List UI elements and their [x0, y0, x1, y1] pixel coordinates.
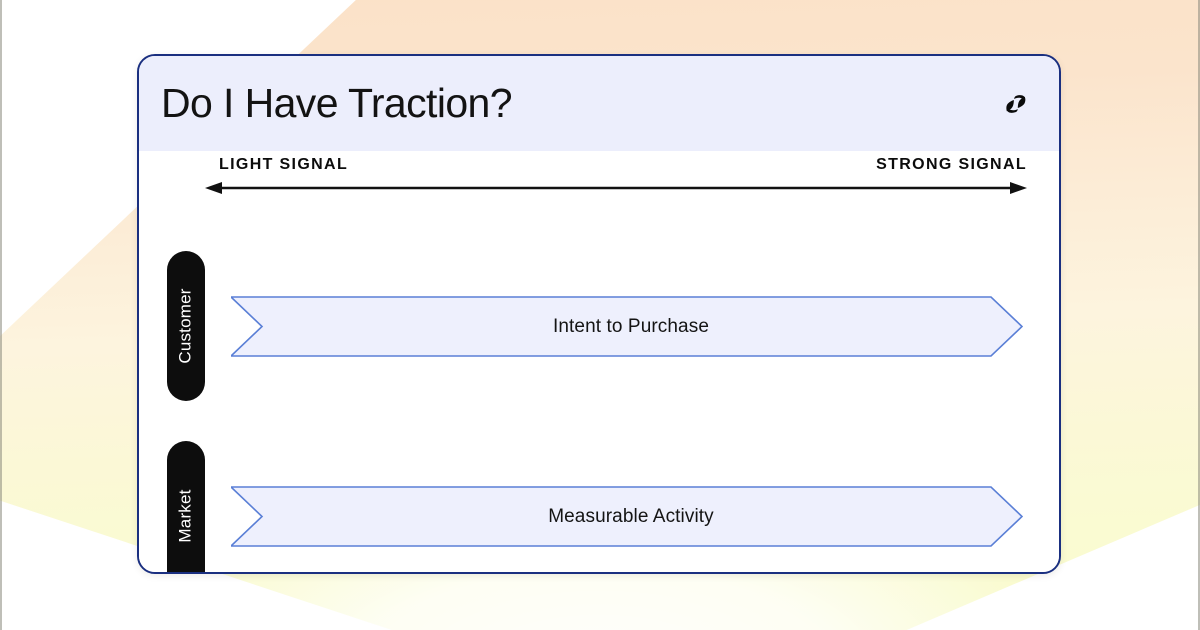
category-pill-label: Customer	[176, 288, 196, 363]
traction-card: Do I Have Traction? LIGHT SIGNAL STRONG …	[137, 54, 1061, 574]
banner-measurable-activity[interactable]: Measurable Activity	[231, 486, 1023, 547]
row-market: Market Measurable Activity	[139, 441, 1059, 574]
page-title: Do I Have Traction?	[161, 83, 512, 124]
card-header: Do I Have Traction?	[139, 56, 1059, 151]
category-pill-market: Market	[167, 441, 205, 574]
category-pill-customer: Customer	[167, 251, 205, 401]
axis-label-light-signal: LIGHT SIGNAL	[219, 157, 348, 173]
axis-label-strong-signal: STRONG SIGNAL	[876, 157, 1027, 173]
banner-intent-to-purchase[interactable]: Intent to Purchase	[231, 296, 1023, 357]
signal-axis: LIGHT SIGNAL STRONG SIGNAL	[205, 157, 1027, 211]
slide-canvas: Do I Have Traction? LIGHT SIGNAL STRONG …	[0, 0, 1200, 630]
background-edge-left	[0, 0, 2, 630]
brand-logo-icon	[999, 87, 1033, 121]
category-pill-label: Market	[176, 489, 196, 542]
card-body: LIGHT SIGNAL STRONG SIGNAL Customer I	[139, 151, 1059, 572]
banner-label: Intent to Purchase	[231, 296, 1023, 357]
axis-double-arrow-icon	[205, 179, 1027, 197]
banner-label: Measurable Activity	[231, 486, 1023, 547]
row-customer: Customer Intent to Purchase	[139, 251, 1059, 401]
